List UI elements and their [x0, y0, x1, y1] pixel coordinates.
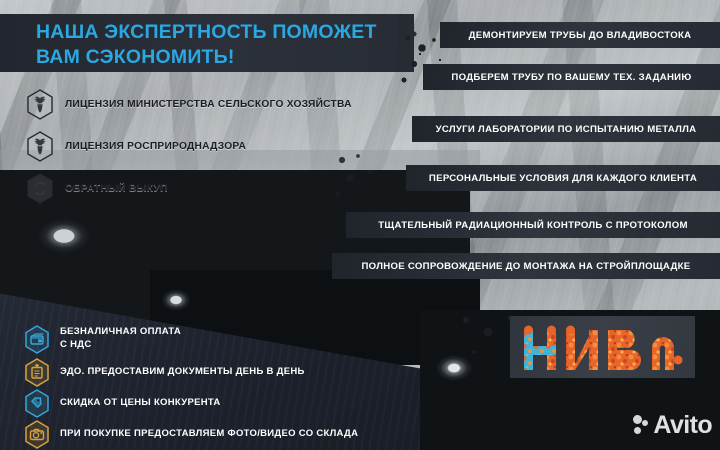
service-label: ТЩАТЕЛЬНЫЙ РАДИАЦИОННЫЙ КОНТРОЛЬ С ПРОТО…: [364, 220, 702, 231]
service-bar: ДЕМОНТИРУЕМ ТРУБЫ ДО ВЛАДИВОСТОКА: [440, 22, 720, 48]
advertisement-banner: НАША ЭКСПЕРТНОСТЬ ПОМОЖЕТ ВАМ СЭКОНОМИТЬ…: [0, 0, 720, 450]
benefit-label: ЭДО. ПРЕДОСТАВИМ ДОКУМЕНТЫ ДЕНЬ В ДЕНЬ: [60, 366, 305, 379]
service-label: УСЛУГИ ЛАБОРАТОРИИ ПО ИСПЫТАНИЮ МЕТАЛЛА: [422, 124, 711, 135]
license-label: ЛИЦЕНЗИЯ РОСПРИРОДНАДЗОРА: [65, 141, 246, 152]
benefit-label: БЕЗНАЛИЧНАЯ ОПЛАТАС НДС: [60, 326, 181, 351]
service-bar: ТЩАТЕЛЬНЫЙ РАДИАЦИОННЫЙ КОНТРОЛЬ С ПРОТО…: [346, 212, 720, 238]
eagle-emblem-icon: [26, 131, 54, 162]
company-logo: НИВА: [520, 318, 690, 378]
service-label: ПЕРСОНАЛЬНЫЕ УСЛОВИЯ ДЛЯ КАЖДОГО КЛИЕНТА: [415, 173, 711, 184]
list-item: ЛИЦЕНЗИЯ МИНИСТЕРСТВА СЕЛЬСКОГО ХОЗЯЙСТВ…: [26, 86, 356, 122]
list-item: ЛИЦЕНЗИЯ РОСПРИРОДНАДЗОРА: [26, 128, 356, 164]
service-label: ПОЛНОЕ СОПРОВОЖДЕНИЕ ДО МОНТАЖА НА СТРОЙ…: [347, 261, 704, 272]
benefit-list: БЕЗНАЛИЧНАЯ ОПЛАТАС НДС ЭДО. ПРЕДОСТАВИМ…: [24, 322, 364, 450]
service-bar: ПОЛНОЕ СОПРОВОЖДЕНИЕ ДО МОНТАЖА НА СТРОЙ…: [332, 253, 720, 279]
service-bar: УСЛУГИ ЛАБОРАТОРИИ ПО ИСПЫТАНИЮ МЕТАЛЛА: [412, 116, 720, 142]
price-tag-icon: [24, 389, 50, 418]
benefit-label: СКИДКА ОТ ЦЕНЫ КОНКУРЕНТА: [60, 397, 221, 410]
service-bar: ПЕРСОНАЛЬНЫЕ УСЛОВИЯ ДЛЯ КАЖДОГО КЛИЕНТА: [406, 165, 720, 191]
service-label: ДЕМОНТИРУЕМ ТРУБЫ ДО ВЛАДИВОСТОКА: [455, 30, 706, 41]
page-title: НАША ЭКСПЕРТНОСТЬ ПОМОЖЕТ ВАМ СЭКОНОМИТЬ…: [36, 20, 406, 70]
document-upload-icon: [24, 358, 50, 387]
list-item: ОБРАТНЫЙ ВЫКУП: [26, 170, 356, 206]
eagle-emblem-icon: [26, 89, 54, 120]
license-label: ЛИЦЕНЗИЯ МИНИСТЕРСТВА СЕЛЬСКОГО ХОЗЯЙСТВ…: [65, 99, 352, 110]
wallet-card-icon: [24, 325, 50, 354]
avito-dots: [633, 414, 648, 436]
benefit-label: ПРИ ПОКУПКЕ ПРЕДОСТАВЛЯЕМ ФОТО/ВИДЕО СО …: [60, 428, 358, 441]
list-item: БЕЗНАЛИЧНАЯ ОПЛАТАС НДС: [24, 322, 364, 356]
service-label: ПОДБЕРЕМ ТРУБУ ПО ВАШЕМУ ТЕХ. ЗАДАНИЮ: [437, 72, 705, 83]
service-bar: ПОДБЕРЕМ ТРУБУ ПО ВАШЕМУ ТЕХ. ЗАДАНИЮ: [423, 64, 720, 90]
avito-wordmark: Avito: [653, 411, 712, 440]
list-item: ПРИ ПОКУПКЕ ПРЕДОСТАВЛЯЕМ ФОТО/ВИДЕО СО …: [24, 420, 364, 449]
list-item: ЭДО. ПРЕДОСТАВИМ ДОКУМЕНТЫ ДЕНЬ В ДЕНЬ: [24, 358, 364, 387]
license-list: ЛИЦЕНЗИЯ МИНИСТЕРСТВА СЕЛЬСКОГО ХОЗЯЙСТВ…: [26, 86, 356, 212]
list-item: СКИДКА ОТ ЦЕНЫ КОНКУРЕНТА: [24, 389, 364, 418]
license-label: ОБРАТНЫЙ ВЫКУП: [65, 183, 168, 194]
avito-logo-icon: Avito: [633, 410, 712, 440]
recycle-arrows-icon: [26, 173, 54, 204]
camera-icon: [24, 420, 50, 449]
